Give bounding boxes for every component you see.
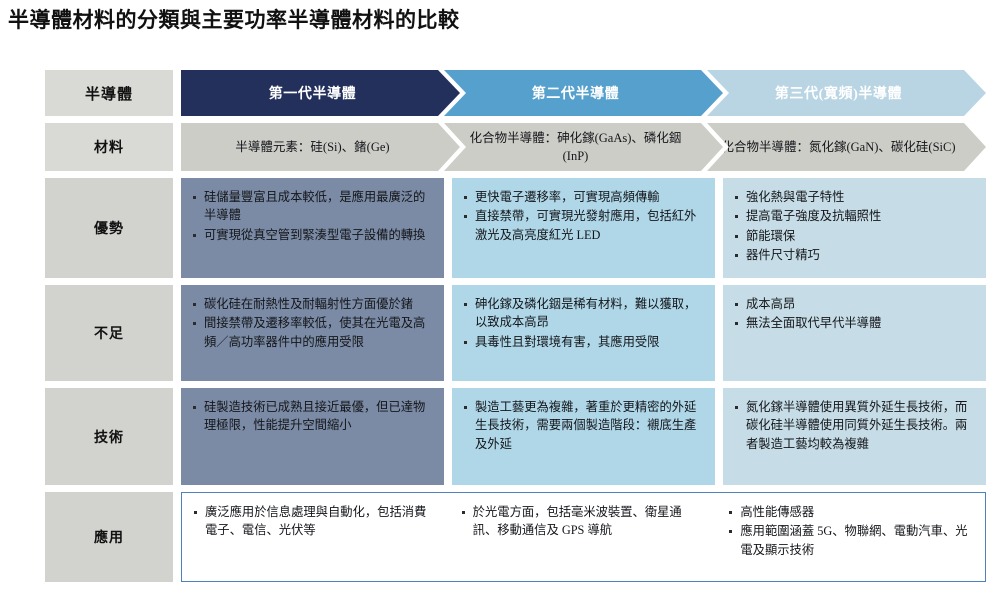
row-label-semiconductor: 半導體	[45, 70, 173, 116]
application-gen1: 廣泛應用於信息處理與自動化，包括消費電子、電信、光伏等	[182, 493, 450, 581]
bullet-list: 廣泛應用於信息處理與自動化，包括消費電子、電信、光伏等	[192, 503, 438, 540]
material-columns: 半導體元素：硅(Si)、鍺(Ge) 化合物半導體：砷化鎵(GaAs)、磷化銦(I…	[181, 123, 986, 171]
bullet-item: 製造工藝更為複雜，著重於更精密的外延生長技術，需要兩個製造階段：襯底生產及外延	[462, 398, 703, 453]
header-gen2[interactable]: 第二代半導體	[444, 70, 723, 116]
table-row-material: 材料 半導體元素：硅(Si)、鍺(Ge) 化合物半導體：砷化鎵(GaAs)、磷化…	[45, 123, 986, 171]
row-label-shortage: 不足	[45, 285, 173, 381]
header-gen1[interactable]: 第一代半導體	[181, 70, 460, 116]
bullet-item: 無法全面取代早代半導體	[733, 314, 974, 332]
bullet-item: 高性能傳感器	[727, 503, 973, 521]
bullet-item: 器件尺寸精巧	[733, 246, 974, 264]
bullet-item: 間接禁帶及遷移率較低，使其在光電及高頻／高功率器件中的應用受限	[191, 314, 432, 351]
bullet-item: 具毒性且對環境有害，其應用受限	[462, 333, 703, 351]
table-row-advantage: 優勢 硅儲量豐富且成本較低，是應用最廣泛的半導體可實現從真空管到緊湊型電子設備的…	[45, 178, 986, 278]
bullet-item: 碳化硅在耐熱性及耐輻射性方面優於鍺	[191, 295, 432, 313]
material-gen1: 半導體元素：硅(Si)、鍺(Ge)	[181, 123, 460, 171]
bullet-item: 直接禁帶，可實現光發射應用，包括紅外激光及高亮度紅光 LED	[462, 207, 703, 244]
table-row-shortage: 不足 碳化硅在耐熱性及耐輻射性方面優於鍺間接禁帶及遷移率較低，使其在光電及高頻／…	[45, 285, 986, 381]
page-title: 半導體材料的分類與主要功率半導體材料的比較	[8, 4, 460, 34]
row-label-application: 應用	[45, 492, 173, 582]
advantage-columns: 硅儲量豐富且成本較低，是應用最廣泛的半導體可實現從真空管到緊湊型電子設備的轉換 …	[181, 178, 986, 278]
bullet-item: 於光電方面，包括毫米波裝置、衛星通訊、移動通信及 GPS 導航	[460, 503, 706, 540]
bullet-item: 提高電子強度及抗輻照性	[733, 207, 974, 225]
bullet-list: 硅儲量豐富且成本較低，是應用最廣泛的半導體可實現從真空管到緊湊型電子設備的轉換	[191, 188, 432, 244]
bullet-item: 硅製造技術已成熟且接近最優，但已達物理極限，性能提升空間縮小	[191, 398, 432, 435]
application-gen3: 高性能傳感器應用範圍涵蓋 5G、物聯網、電動汽車、光電及顯示技術	[717, 493, 985, 581]
row-label-technology: 技術	[45, 388, 173, 485]
technology-gen2: 製造工藝更為複雜，著重於更精密的外延生長技術，需要兩個製造階段：襯底生產及外延	[452, 388, 715, 485]
bullet-list: 氮化鎵半導體使用異質外延生長技術，而碳化硅半導體使用同質外延生長技術。兩者製造工…	[733, 398, 974, 453]
shortage-gen2: 砷化鎵及磷化銦是稀有材料，難以獲取，以致成本高昂具毒性且對環境有害，其應用受限	[452, 285, 715, 381]
shortage-gen3: 成本高昂無法全面取代早代半導體	[723, 285, 986, 381]
label-gap	[173, 388, 181, 485]
bullet-item: 廣泛應用於信息處理與自動化，包括消費電子、電信、光伏等	[192, 503, 438, 540]
technology-gen1: 硅製造技術已成熟且接近最優，但已達物理極限，性能提升空間縮小	[181, 388, 444, 485]
bullet-list: 更快電子遷移率，可實現高頻傳輸直接禁帶，可實現光發射應用，包括紅外激光及高亮度紅…	[462, 188, 703, 244]
bullet-item: 節能環保	[733, 227, 974, 245]
bullet-item: 硅儲量豐富且成本較低，是應用最廣泛的半導體	[191, 188, 432, 225]
table-row-application: 應用 廣泛應用於信息處理與自動化，包括消費電子、電信、光伏等 於光電方面，包括毫…	[45, 492, 986, 582]
row-label-material: 材料	[45, 123, 173, 171]
bullet-item: 可實現從真空管到緊湊型電子設備的轉換	[191, 226, 432, 244]
bullet-item: 強化熱與電子特性	[733, 188, 974, 206]
bullet-item: 氮化鎵半導體使用異質外延生長技術，而碳化硅半導體使用同質外延生長技術。兩者製造工…	[733, 398, 974, 453]
header-columns: 第一代半導體 第二代半導體 第三代(寬頻)半導體	[181, 70, 986, 116]
bullet-list: 砷化鎵及磷化銦是稀有材料，難以獲取，以致成本高昂具毒性且對環境有害，其應用受限	[462, 295, 703, 351]
bullet-list: 高性能傳感器應用範圍涵蓋 5G、物聯網、電動汽車、光電及顯示技術	[727, 503, 973, 559]
label-gap	[173, 178, 181, 278]
advantage-gen3: 強化熱與電子特性提高電子強度及抗輻照性節能環保器件尺寸精巧	[723, 178, 986, 278]
label-gap	[173, 123, 181, 171]
bullet-list: 硅製造技術已成熟且接近最優，但已達物理極限，性能提升空間縮小	[191, 398, 432, 435]
row-label-advantage: 優勢	[45, 178, 173, 278]
label-gap	[173, 492, 181, 582]
bullet-item: 應用範圍涵蓋 5G、物聯網、電動汽車、光電及顯示技術	[727, 522, 973, 559]
material-gen2: 化合物半導體：砷化鎵(GaAs)、磷化銦(InP)	[444, 123, 723, 171]
bullet-list: 強化熱與電子特性提高電子強度及抗輻照性節能環保器件尺寸精巧	[733, 188, 974, 265]
application-columns: 廣泛應用於信息處理與自動化，包括消費電子、電信、光伏等 於光電方面，包括毫米波裝…	[181, 492, 986, 582]
shortage-gen1: 碳化硅在耐熱性及耐輻射性方面優於鍺間接禁帶及遷移率較低，使其在光電及高頻／高功率…	[181, 285, 444, 381]
material-gen3: 化合物半導體：氮化鎵(GaN)、碳化硅(SiC)	[707, 123, 986, 171]
bullet-list: 於光電方面，包括毫米波裝置、衛星通訊、移動通信及 GPS 導航	[460, 503, 706, 540]
header-gen3[interactable]: 第三代(寬頻)半導體	[707, 70, 986, 116]
bullet-item: 更快電子遷移率，可實現高頻傳輸	[462, 188, 703, 206]
bullet-item: 砷化鎵及磷化銦是稀有材料，難以獲取，以致成本高昂	[462, 295, 703, 332]
advantage-gen1: 硅儲量豐富且成本較低，是應用最廣泛的半導體可實現從真空管到緊湊型電子設備的轉換	[181, 178, 444, 278]
technology-columns: 硅製造技術已成熟且接近最優，但已達物理極限，性能提升空間縮小 製造工藝更為複雜，…	[181, 388, 986, 485]
bullet-list: 成本高昂無法全面取代早代半導體	[733, 295, 974, 333]
application-gen2: 於光電方面，包括毫米波裝置、衛星通訊、移動通信及 GPS 導航	[450, 493, 718, 581]
technology-gen3: 氮化鎵半導體使用異質外延生長技術，而碳化硅半導體使用同質外延生長技術。兩者製造工…	[723, 388, 986, 485]
label-gap	[173, 285, 181, 381]
bullet-list: 製造工藝更為複雜，著重於更精密的外延生長技術，需要兩個製造階段：襯底生產及外延	[462, 398, 703, 453]
table-row-generation-header: 半導體 第一代半導體 第二代半導體 第三代(寬頻)半導體	[45, 70, 986, 116]
table-row-technology: 技術 硅製造技術已成熟且接近最優，但已達物理極限，性能提升空間縮小 製造工藝更為…	[45, 388, 986, 485]
label-gap	[173, 70, 181, 116]
comparison-matrix: 半導體 第一代半導體 第二代半導體 第三代(寬頻)半導體 材料 半導體元素：硅(…	[45, 70, 986, 589]
bullet-item: 成本高昂	[733, 295, 974, 313]
bullet-list: 碳化硅在耐熱性及耐輻射性方面優於鍺間接禁帶及遷移率較低，使其在光電及高頻／高功率…	[191, 295, 432, 351]
shortage-columns: 碳化硅在耐熱性及耐輻射性方面優於鍺間接禁帶及遷移率較低，使其在光電及高頻／高功率…	[181, 285, 986, 381]
advantage-gen2: 更快電子遷移率，可實現高頻傳輸直接禁帶，可實現光發射應用，包括紅外激光及高亮度紅…	[452, 178, 715, 278]
